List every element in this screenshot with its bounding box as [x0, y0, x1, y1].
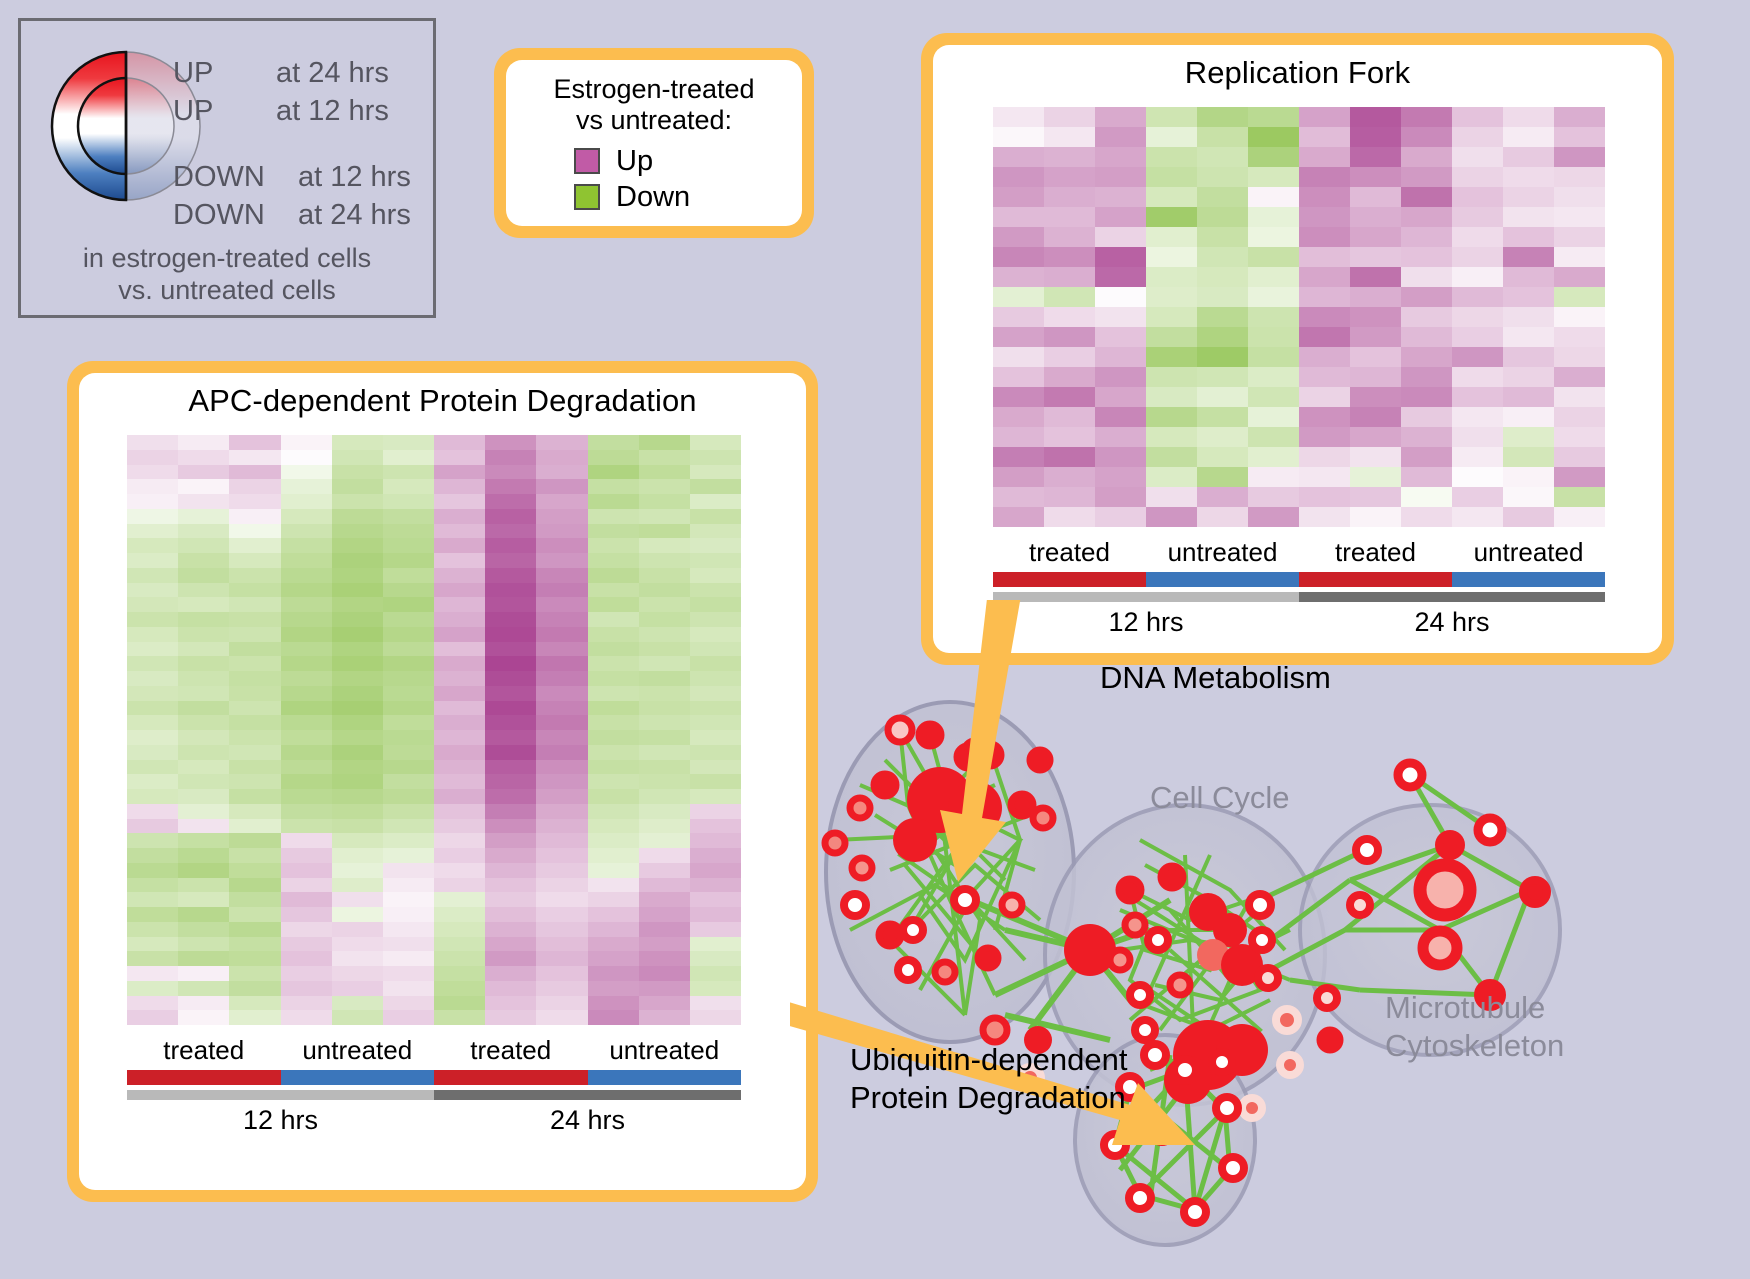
heatmap-cell: [332, 642, 383, 657]
heatmap-cell: [127, 966, 178, 981]
heatmap-cell: [229, 583, 280, 598]
heatmap-cell: [1401, 427, 1452, 447]
heatmap-cell: [1554, 107, 1605, 127]
heatmap-cell: [690, 907, 741, 922]
heatmap-cell: [1146, 347, 1197, 367]
heatmap-cell: [281, 863, 332, 878]
heatmap-cell: [332, 435, 383, 450]
heatmap-cell: [993, 507, 1044, 527]
legend-heading-line2: vs untreated:: [506, 105, 802, 136]
heatmap-cell: [127, 465, 178, 480]
heatmap-cell: [1197, 427, 1248, 447]
heatmap-cell: [1503, 267, 1554, 287]
heatmap-cell: [127, 760, 178, 775]
heatmap-cell: [536, 686, 587, 701]
heatmap-cell: [536, 597, 587, 612]
heatmap-cell: [1401, 507, 1452, 527]
heatmap-cell: [639, 524, 690, 539]
heatmap-cell: [1452, 207, 1503, 227]
heatmap-cell: [178, 583, 229, 598]
heatmap-cell: [536, 804, 587, 819]
heatmap-cell: [588, 671, 639, 686]
heatmap-cell: [281, 907, 332, 922]
heatmap-cell: [485, 878, 536, 893]
heatmap-cell: [1350, 507, 1401, 527]
heatmap-cell: [1554, 467, 1605, 487]
heatmap-cell: [1299, 347, 1350, 367]
heatmap-cell: [639, 494, 690, 509]
heatmap-cell: [588, 450, 639, 465]
replication-fork-heatmap: [993, 107, 1605, 527]
heatmap-cell: [588, 848, 639, 863]
heatmap-cell: [536, 966, 587, 981]
heatmap-cell: [639, 715, 690, 730]
heatmap-cell: [1350, 387, 1401, 407]
heatmap-cell: [536, 878, 587, 893]
heatmap-cell: [639, 701, 690, 716]
heatmap-cell: [383, 730, 434, 745]
heatmap-cell: [1401, 347, 1452, 367]
heatmap-cell: [588, 774, 639, 789]
heatmap-cell: [1248, 407, 1299, 427]
heatmap-cell: [588, 833, 639, 848]
heatmap-cell: [536, 907, 587, 922]
heatmap-cell: [690, 671, 741, 686]
heatmap-cell: [281, 686, 332, 701]
heatmap-cell: [434, 450, 485, 465]
heatmap-cell: [178, 878, 229, 893]
heatmap-cell: [229, 951, 280, 966]
heatmap-cell: [588, 951, 639, 966]
heatmap-cell: [485, 804, 536, 819]
heatmap-cell: [332, 730, 383, 745]
heatmap-cell: [536, 656, 587, 671]
time-label-24: 24 hrs: [434, 1105, 741, 1136]
heatmap-cell: [993, 347, 1044, 367]
heatmap-cell: [1299, 507, 1350, 527]
heatmap-cell: [639, 671, 690, 686]
heatmap-cell: [229, 789, 280, 804]
heatmap-cell: [1197, 187, 1248, 207]
heatmap-cell: [639, 863, 690, 878]
heatmap-cell: [1503, 487, 1554, 507]
heatmap-cell: [485, 583, 536, 598]
heatmap-cell: [1146, 367, 1197, 387]
heatmap-cell: [536, 701, 587, 716]
heatmap-cell: [690, 479, 741, 494]
heatmap-cell: [383, 789, 434, 804]
heatmap-cell: [1299, 167, 1350, 187]
heatmap-cell: [127, 878, 178, 893]
heatmap-cell: [588, 863, 639, 878]
heatmap-cell: [434, 730, 485, 745]
heatmap-cell: [1554, 147, 1605, 167]
heatmap-cell: [281, 745, 332, 760]
key-label-down-12: DOWN: [173, 163, 265, 192]
key-footer-line1: in estrogen-treated cells: [21, 243, 433, 275]
heatmap-cell: [383, 966, 434, 981]
heatmap-cell: [434, 715, 485, 730]
heatmap-cell: [639, 1010, 690, 1025]
heatmap-cell: [127, 833, 178, 848]
heatmap-cell: [229, 568, 280, 583]
legend-heading-line1: Estrogen-treated: [506, 74, 802, 105]
key-label-up-12: UP: [173, 97, 213, 126]
heatmap-cell: [536, 465, 587, 480]
apc-degradation-title: APC-dependent Protein Degradation: [79, 373, 806, 419]
heatmap-cell: [1401, 267, 1452, 287]
heatmap-cell: [178, 922, 229, 937]
treatment-bar-untreated-24: [588, 1070, 742, 1085]
heatmap-cell: [1044, 367, 1095, 387]
group-label-1: untreated: [1146, 537, 1299, 568]
heatmap-cell: [1197, 247, 1248, 267]
heatmap-cell: [485, 981, 536, 996]
heatmap-cell: [1350, 327, 1401, 347]
heatmap-cell: [1452, 447, 1503, 467]
heatmap-cell: [229, 671, 280, 686]
heatmap-cell: [383, 538, 434, 553]
heatmap-cell: [1146, 407, 1197, 427]
heatmap-cell: [690, 760, 741, 775]
heatmap-cell: [332, 774, 383, 789]
heatmap-cell: [1044, 187, 1095, 207]
heatmap-cell: [485, 996, 536, 1011]
heatmap-cell: [127, 553, 178, 568]
heatmap-cell: [1401, 107, 1452, 127]
heatmap-cell: [485, 848, 536, 863]
heatmap-cell: [588, 878, 639, 893]
heatmap-cell: [485, 701, 536, 716]
heatmap-cell: [1299, 287, 1350, 307]
heatmap-cell: [434, 642, 485, 657]
key-time-up-12: at 12 hrs: [276, 97, 389, 126]
treatment-bar-treated-24: [1299, 572, 1452, 587]
heatmap-cell: [639, 981, 690, 996]
heatmap-cell: [1299, 467, 1350, 487]
apc-time-labels: 12 hrs 24 hrs: [127, 1105, 741, 1136]
heatmap-cell: [1452, 167, 1503, 187]
heatmap-cell: [1554, 387, 1605, 407]
replication-fork-group-labels: treated untreated treated untreated: [993, 537, 1605, 568]
heatmap-cell: [1248, 327, 1299, 347]
heatmap-cell: [281, 612, 332, 627]
heatmap-cell: [1248, 147, 1299, 167]
heatmap-cell: [1044, 387, 1095, 407]
heatmap-cell: [1554, 127, 1605, 147]
heatmap-cell: [281, 524, 332, 539]
heatmap-cell: [383, 907, 434, 922]
heatmap-cell: [332, 833, 383, 848]
label-ubiquitin-line1: Ubiquitin-dependent: [850, 1042, 1128, 1077]
heatmap-cell: [434, 538, 485, 553]
heatmap-cell: [281, 715, 332, 730]
heatmap-cell: [639, 553, 690, 568]
heatmap-cell: [536, 774, 587, 789]
heatmap-cell: [639, 760, 690, 775]
heatmap-cell: [281, 1010, 332, 1025]
heatmap-cell: [588, 509, 639, 524]
heatmap-cell: [178, 465, 229, 480]
heatmap-cell: [127, 907, 178, 922]
heatmap-cell: [690, 568, 741, 583]
heatmap-cell: [1197, 107, 1248, 127]
heatmap-cell: [690, 789, 741, 804]
heatmap-cell: [536, 789, 587, 804]
heatmap-cell: [1248, 107, 1299, 127]
heatmap-cell: [281, 789, 332, 804]
heatmap-cell: [1095, 187, 1146, 207]
heatmap-cell: [281, 981, 332, 996]
heatmap-cell: [229, 553, 280, 568]
heatmap-cell: [383, 597, 434, 612]
heatmap-cell: [588, 804, 639, 819]
heatmap-cell: [588, 701, 639, 716]
heatmap-cell: [1503, 187, 1554, 207]
heatmap-cell: [536, 1010, 587, 1025]
heatmap-cell: [485, 612, 536, 627]
heatmap-cell: [536, 450, 587, 465]
heatmap-cell: [332, 907, 383, 922]
heatmap-cell: [1095, 467, 1146, 487]
heatmap-cell: [178, 760, 229, 775]
heatmap-cell: [1146, 227, 1197, 247]
heatmap-cell: [639, 656, 690, 671]
heatmap-cell: [1197, 327, 1248, 347]
heatmap-cell: [485, 465, 536, 480]
heatmap-cell: [1095, 487, 1146, 507]
heatmap-cell: [229, 450, 280, 465]
heatmap-cell: [383, 509, 434, 524]
heatmap-cell: [229, 494, 280, 509]
heatmap-cell: [1452, 307, 1503, 327]
heatmap-cell: [485, 538, 536, 553]
heatmap-cell: [229, 465, 280, 480]
heatmap-cell: [588, 966, 639, 981]
heatmap-cell: [127, 435, 178, 450]
heatmap-cell: [383, 774, 434, 789]
heatmap-cell: [639, 583, 690, 598]
heatmap-cell: [690, 627, 741, 642]
heatmap-cell: [383, 819, 434, 834]
key-label-up-24: UP: [173, 59, 213, 88]
heatmap-cell: [690, 509, 741, 524]
heatmap-cell: [639, 509, 690, 524]
heatmap-cell: [1350, 367, 1401, 387]
heatmap-cell: [1401, 227, 1452, 247]
heatmap-cell: [485, 774, 536, 789]
heatmap-cell: [229, 745, 280, 760]
heatmap-cell: [332, 656, 383, 671]
heatmap-cell: [536, 760, 587, 775]
heatmap-cell: [434, 745, 485, 760]
heatmap-cell: [332, 509, 383, 524]
label-microtubule-line1: Microtubule: [1385, 990, 1545, 1025]
heatmap-cell: [1044, 267, 1095, 287]
heatmap-cell: [588, 789, 639, 804]
heatmap-cell: [178, 730, 229, 745]
heatmap-cell: [993, 407, 1044, 427]
heatmap-cell: [1095, 247, 1146, 267]
heatmap-cell: [281, 627, 332, 642]
heatmap-cell: [536, 568, 587, 583]
heatmap-cell: [127, 774, 178, 789]
heatmap-cell: [434, 774, 485, 789]
heatmap-cell: [178, 951, 229, 966]
heatmap-cell: [485, 863, 536, 878]
label-dna-metabolism: DNA Metabolism: [1100, 660, 1331, 695]
heatmap-cell: [178, 509, 229, 524]
heatmap-cell: [1503, 167, 1554, 187]
heatmap-cell: [178, 804, 229, 819]
heatmap-cell: [536, 848, 587, 863]
heatmap-cell: [1146, 307, 1197, 327]
heatmap-cell: [536, 863, 587, 878]
heatmap-cell: [639, 612, 690, 627]
heatmap-cell: [383, 804, 434, 819]
legend-label-up: Up: [616, 145, 653, 178]
heatmap-cell: [383, 583, 434, 598]
heatmap-cell: [1197, 127, 1248, 147]
heatmap-cell: [178, 996, 229, 1011]
heatmap-cell: [1350, 187, 1401, 207]
heatmap-cell: [1299, 207, 1350, 227]
heatmap-cell: [434, 966, 485, 981]
heatmap-cell: [383, 715, 434, 730]
heatmap-cell: [383, 612, 434, 627]
heatmap-cell: [1503, 347, 1554, 367]
heatmap-cell: [1452, 127, 1503, 147]
heatmap-cell: [332, 804, 383, 819]
heatmap-cell: [993, 227, 1044, 247]
heatmap-cell: [1350, 147, 1401, 167]
heatmap-cell: [383, 745, 434, 760]
heatmap-cell: [229, 760, 280, 775]
heatmap-cell: [332, 627, 383, 642]
heatmap-cell: [1044, 127, 1095, 147]
heatmap-cell: [993, 287, 1044, 307]
heatmap-cell: [1197, 267, 1248, 287]
heatmap-cell: [383, 760, 434, 775]
heatmap-cell: [588, 568, 639, 583]
heatmap-cell: [434, 819, 485, 834]
time-label-12: 12 hrs: [127, 1105, 434, 1136]
heatmap-cell: [229, 774, 280, 789]
key-time-down-12: at 12 hrs: [298, 163, 411, 192]
heatmap-cell: [281, 819, 332, 834]
heatmap-cell: [485, 597, 536, 612]
heatmap-cell: [1146, 207, 1197, 227]
heatmap-cell: [434, 479, 485, 494]
heatmap-cell: [588, 612, 639, 627]
heatmap-cell: [690, 804, 741, 819]
heatmap-cell: [1452, 107, 1503, 127]
heatmap-cell: [1554, 427, 1605, 447]
heatmap-cell: [127, 524, 178, 539]
heatmap-cell: [1554, 227, 1605, 247]
heatmap-cell: [639, 878, 690, 893]
heatmap-cell: [229, 848, 280, 863]
heatmap-cell: [639, 450, 690, 465]
heatmap-cell: [1401, 147, 1452, 167]
heatmap-cell: [1044, 167, 1095, 187]
heatmap-cell: [383, 937, 434, 952]
heatmap-cell: [690, 833, 741, 848]
heatmap-cell: [127, 479, 178, 494]
heatmap-cell: [485, 686, 536, 701]
replication-fork-card: Replication Fork treated untreated treat…: [921, 33, 1674, 665]
heatmap-cell: [1503, 507, 1554, 527]
heatmap-cell: [1095, 307, 1146, 327]
heatmap-cell: [281, 656, 332, 671]
heatmap-cell: [485, 479, 536, 494]
heatmap-cell: [690, 966, 741, 981]
heatmap-cell: [178, 789, 229, 804]
heatmap-cell: [178, 686, 229, 701]
heatmap-cell: [536, 745, 587, 760]
heatmap-cell: [1452, 467, 1503, 487]
heatmap-cell: [1146, 387, 1197, 407]
heatmap-cell: [639, 804, 690, 819]
heatmap-cell: [690, 819, 741, 834]
heatmap-cell: [229, 538, 280, 553]
heatmap-cell: [127, 996, 178, 1011]
heatmap-cell: [281, 760, 332, 775]
heatmap-cell: [1299, 487, 1350, 507]
heatmap-cell: [1248, 467, 1299, 487]
heatmap-cell: [434, 833, 485, 848]
heatmap-cell: [485, 760, 536, 775]
heatmap-cell: [332, 819, 383, 834]
heatmap-cell: [1044, 467, 1095, 487]
heatmap-cell: [1095, 267, 1146, 287]
heatmap-cell: [332, 878, 383, 893]
heatmap-cell: [536, 524, 587, 539]
heatmap-cell: [178, 479, 229, 494]
heatmap-cell: [1503, 147, 1554, 167]
heatmap-cell: [1095, 167, 1146, 187]
heatmap-cell: [1248, 267, 1299, 287]
heatmap-cell: [178, 627, 229, 642]
heatmap-cell: [639, 465, 690, 480]
heatmap-cell: [1401, 127, 1452, 147]
heatmap-cell: [588, 730, 639, 745]
heatmap-cell: [383, 686, 434, 701]
heatmap-cell: [993, 427, 1044, 447]
heatmap-cell: [434, 686, 485, 701]
heatmap-cell: [485, 524, 536, 539]
heatmap-cell: [229, 524, 280, 539]
color-key-panel: UP at 24 hrs UP at 12 hrs DOWN at 12 hrs…: [18, 18, 436, 318]
heatmap-cell: [1044, 507, 1095, 527]
heatmap-cell: [1197, 347, 1248, 367]
heatmap-cell: [993, 387, 1044, 407]
heatmap-cell: [639, 745, 690, 760]
heatmap-cell: [1350, 427, 1401, 447]
heatmap-cell: [690, 494, 741, 509]
heatmap-cell: [485, 907, 536, 922]
heatmap-cell: [229, 937, 280, 952]
heatmap-cell: [639, 642, 690, 657]
heatmap-cell: [1350, 487, 1401, 507]
heatmap-cell: [690, 863, 741, 878]
heatmap-cell: [281, 597, 332, 612]
heatmap-cell: [1044, 107, 1095, 127]
heatmap-cell: [588, 996, 639, 1011]
heatmap-cell: [229, 922, 280, 937]
heatmap-cell: [383, 642, 434, 657]
heatmap-cell: [1350, 247, 1401, 267]
